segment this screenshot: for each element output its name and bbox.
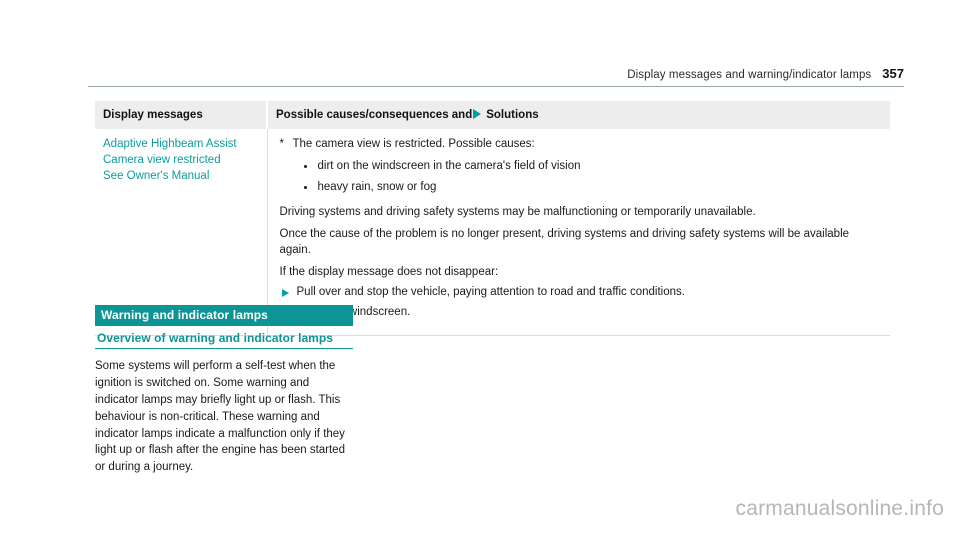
list-item: dirt on the windscreen in the camera's f…	[302, 159, 881, 175]
header-divider-rule	[88, 86, 904, 87]
column-header-causes-solutions: Possible causes/consequences andSolution…	[267, 101, 890, 129]
display-message-line: Adaptive Highbeam Assist	[103, 137, 257, 153]
list-item: heavy rain, snow or fog	[302, 180, 881, 196]
cause-heading-row: * The camera view is restricted. Possibl…	[280, 137, 881, 153]
column-header-display-messages: Display messages	[95, 101, 267, 129]
watermark: carmanualsonline.info	[0, 497, 944, 521]
display-messages-table: Display messages Possible causes/consequ…	[95, 101, 890, 336]
cell-causes-solutions: * The camera view is restricted. Possibl…	[267, 129, 890, 335]
section-subheading: Overview of warning and indicator lamps	[95, 326, 353, 349]
page-title: Display messages and warning/indicator l…	[627, 69, 871, 81]
solution-triangle-icon	[473, 109, 481, 119]
column-header-causes-text: Possible causes/consequences and	[276, 109, 472, 121]
page-running-head: Display messages and warning/indicator l…	[88, 66, 904, 81]
table-header: Display messages Possible causes/consequ…	[95, 101, 890, 129]
column-header-solutions-text: Solutions	[486, 109, 538, 121]
asterisk-marker-icon: *	[280, 137, 287, 153]
cause-heading-text: The camera view is restricted. Possible …	[293, 137, 535, 153]
warning-lamps-section: Warning and indicator lamps Overview of …	[95, 305, 353, 476]
consequence-paragraph: Driving systems and driving safety syste…	[280, 204, 870, 220]
display-message-line: Camera view restricted	[103, 153, 257, 169]
solution-step: Pull over and stop the vehicle, paying a…	[280, 285, 881, 301]
solution-triangle-icon	[282, 289, 289, 297]
display-message-line: See Owner's Manual	[103, 169, 257, 185]
solution-step: Clean the windscreen.	[280, 305, 881, 321]
recovery-paragraph: Once the cause of the problem is no long…	[280, 226, 870, 258]
table-header-row: Display messages Possible causes/consequ…	[95, 101, 890, 129]
solution-step-text: Pull over and stop the vehicle, paying a…	[297, 285, 685, 301]
persistence-paragraph: If the display message does not disappea…	[280, 264, 870, 280]
page-number: 357	[882, 66, 904, 81]
section-body-text: Some systems will perform a self-test wh…	[95, 358, 345, 476]
cause-list: dirt on the windscreen in the camera's f…	[280, 159, 881, 196]
section-banner-title: Warning and indicator lamps	[95, 305, 353, 326]
